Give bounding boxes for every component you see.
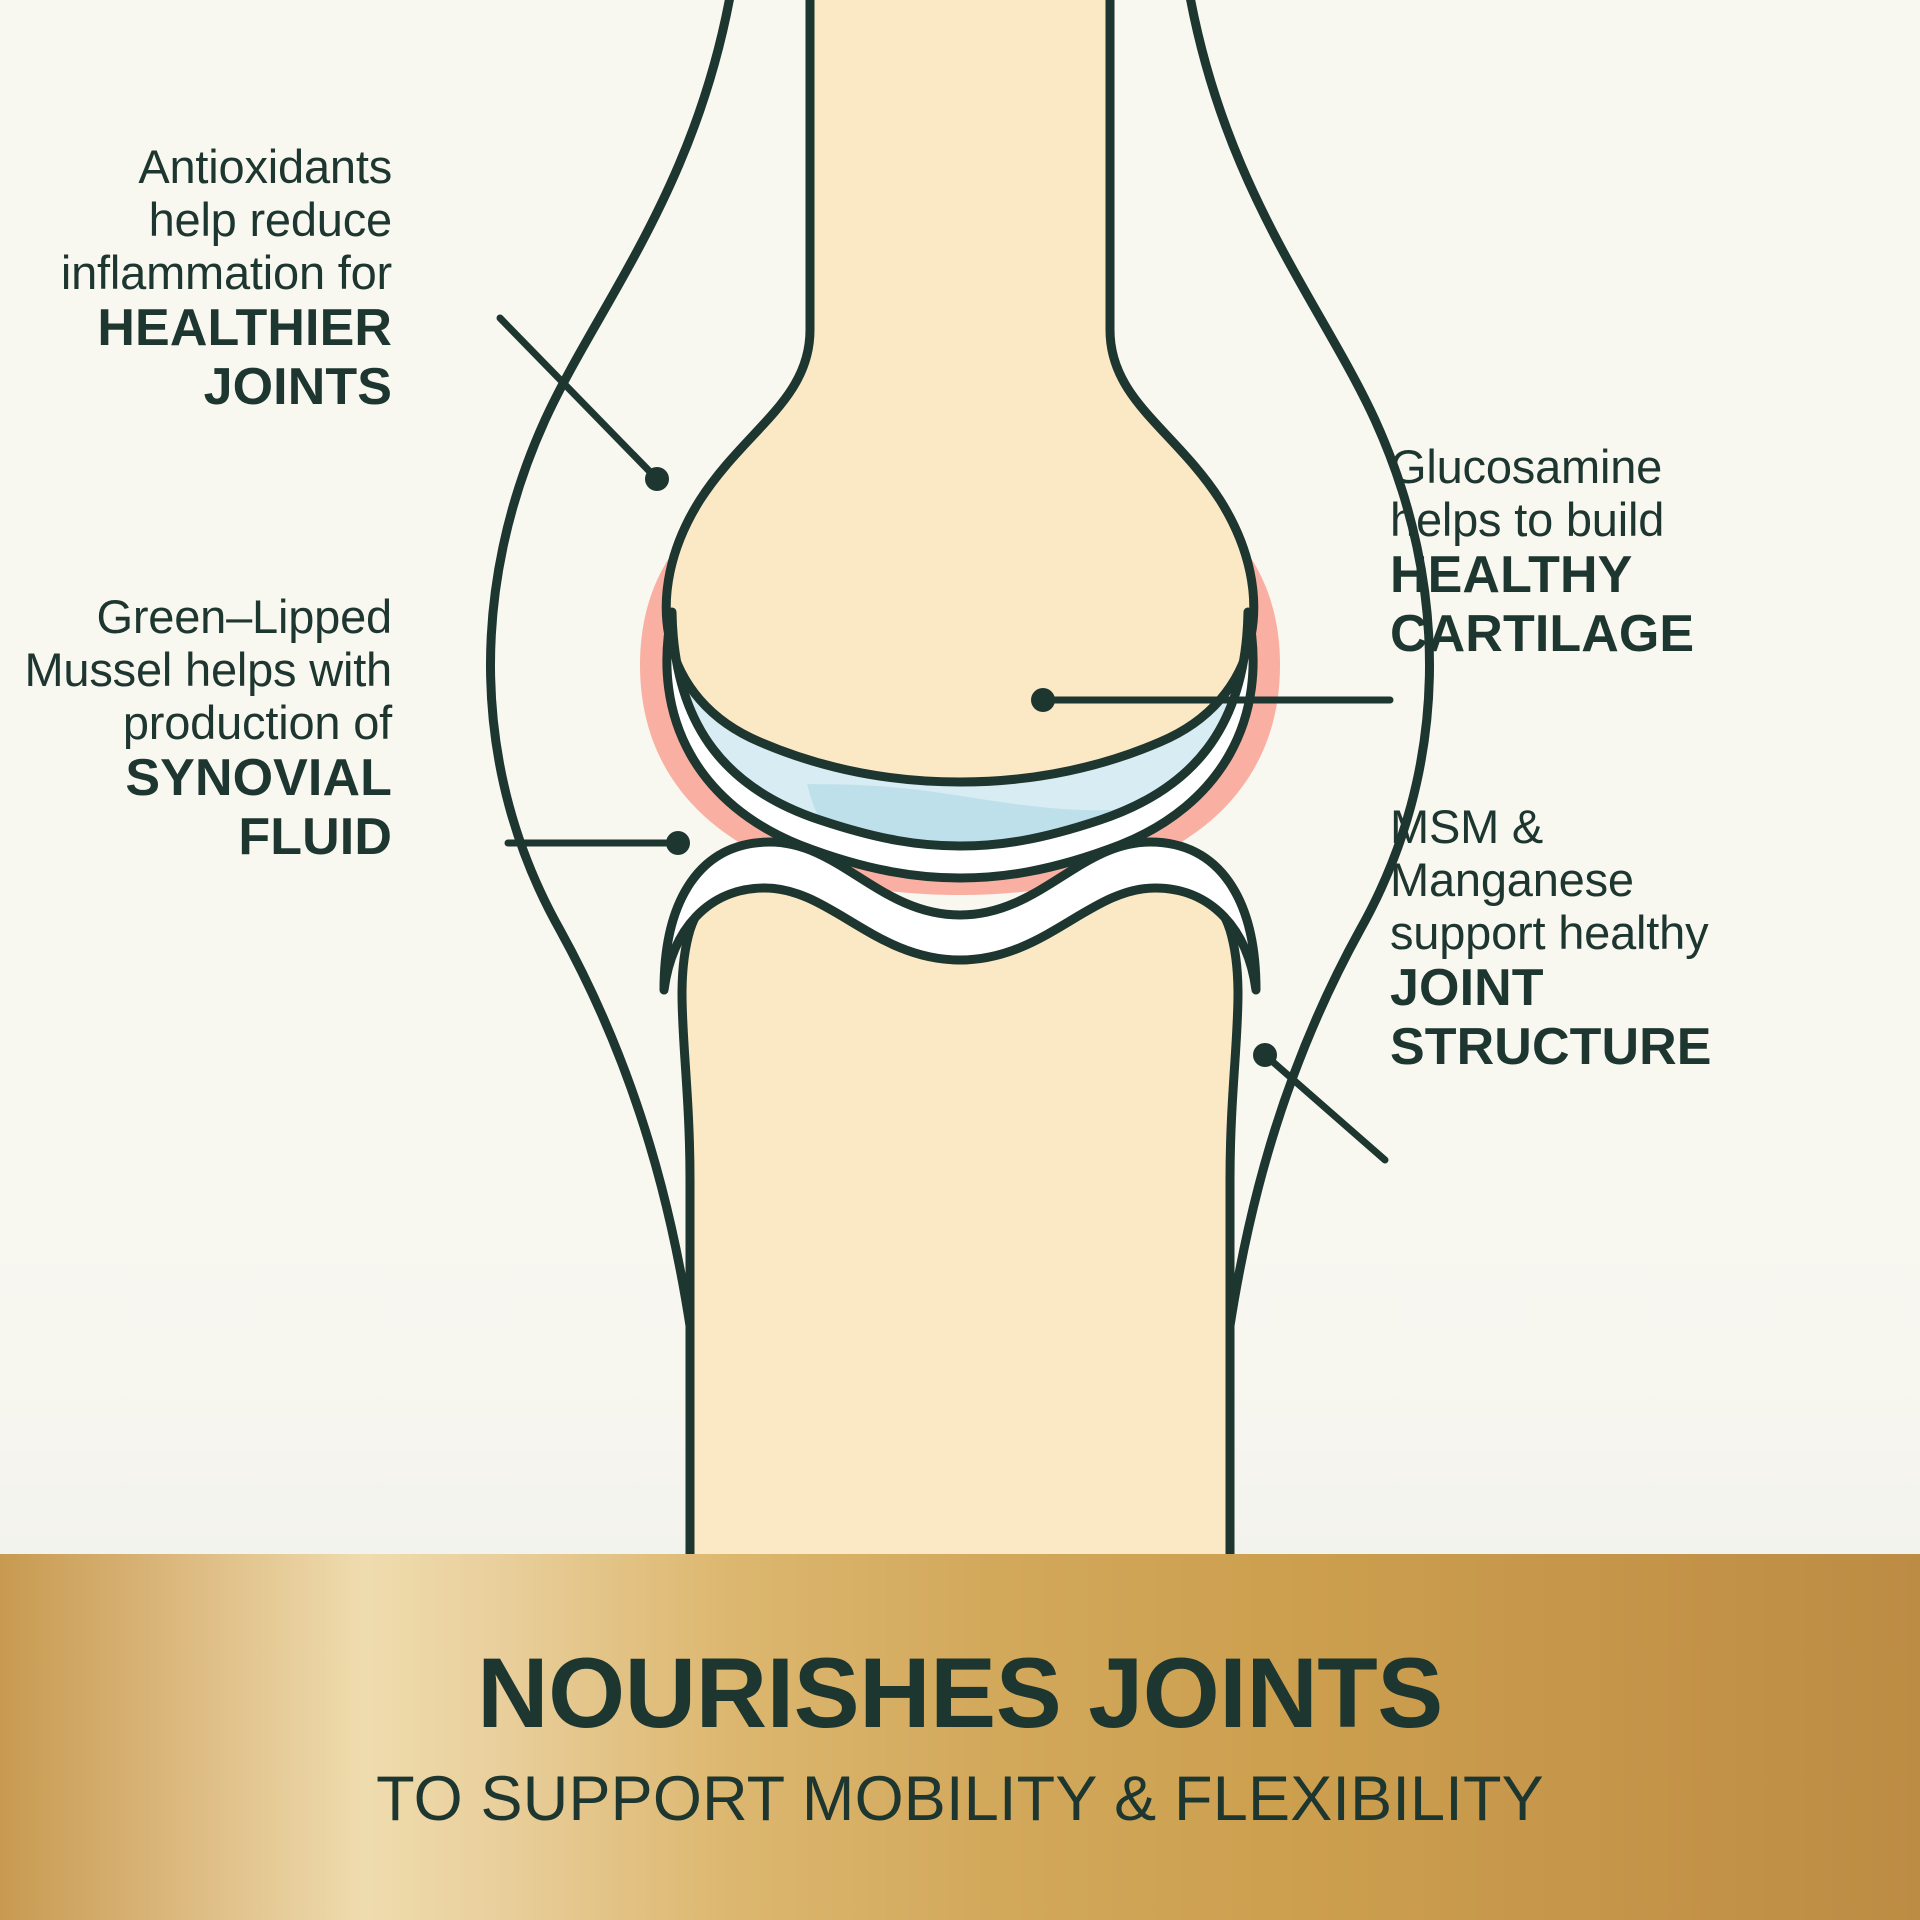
annotation-msm-emph2: STRUCTURE <box>1390 1018 1840 1077</box>
annotation-msm-line1: MSM & <box>1390 800 1840 853</box>
leader-dot-msm <box>1253 1043 1277 1067</box>
annotation-glucosamine: Glucosamine helps to build HEALTHY CARTI… <box>1390 440 1840 664</box>
leader-dot-glucosamine <box>1031 688 1055 712</box>
annotation-mussel-emph1: SYNOVIAL <box>0 749 392 808</box>
annotation-mussel-line3: production of <box>0 696 392 749</box>
annotation-glucosamine-emph1: HEALTHY <box>1390 546 1840 605</box>
leader-line-antioxidants <box>500 318 657 479</box>
annotation-green-lipped-mussel: Green–Lipped Mussel helps with productio… <box>0 590 392 867</box>
annotation-antioxidants-emph2: JOINTS <box>0 358 392 417</box>
annotation-glucosamine-line1: Glucosamine <box>1390 440 1840 493</box>
annotation-glucosamine-emph2: CARTILAGE <box>1390 605 1840 664</box>
annotation-mussel-emph2: FLUID <box>0 808 392 867</box>
footer-gold-banner: NOURISHES JOINTS TO SUPPORT MOBILITY & F… <box>0 1554 1920 1920</box>
annotation-mussel-line2: Mussel helps with <box>0 643 392 696</box>
annotation-antioxidants-line3: inflammation for <box>0 246 392 299</box>
annotation-msm-line2: Manganese <box>1390 853 1840 906</box>
tibia-bone <box>682 863 1238 1560</box>
annotation-antioxidants-line2: help reduce <box>0 193 392 246</box>
annotation-glucosamine-line2: helps to build <box>1390 493 1840 546</box>
leader-dot-antioxidants <box>645 467 669 491</box>
annotation-mussel-line1: Green–Lipped <box>0 590 392 643</box>
annotation-msm-line3: support healthy <box>1390 906 1840 959</box>
annotation-msm-manganese: MSM & Manganese support healthy JOINT ST… <box>1390 800 1840 1077</box>
footer-subheadline: TO SUPPORT MOBILITY & FLEXIBILITY <box>376 1768 1544 1831</box>
annotation-antioxidants-line1: Antioxidants <box>0 140 392 193</box>
annotation-antioxidants: Antioxidants help reduce inflammation fo… <box>0 140 392 417</box>
femur-bone <box>666 0 1254 782</box>
annotation-msm-emph1: JOINT <box>1390 959 1840 1018</box>
leader-dot-mussel <box>666 831 690 855</box>
annotation-antioxidants-emph1: HEALTHIER <box>0 299 392 358</box>
footer-headline: NOURISHES JOINTS <box>477 1643 1443 1742</box>
infographic-canvas: Antioxidants help reduce inflammation fo… <box>0 0 1920 1920</box>
